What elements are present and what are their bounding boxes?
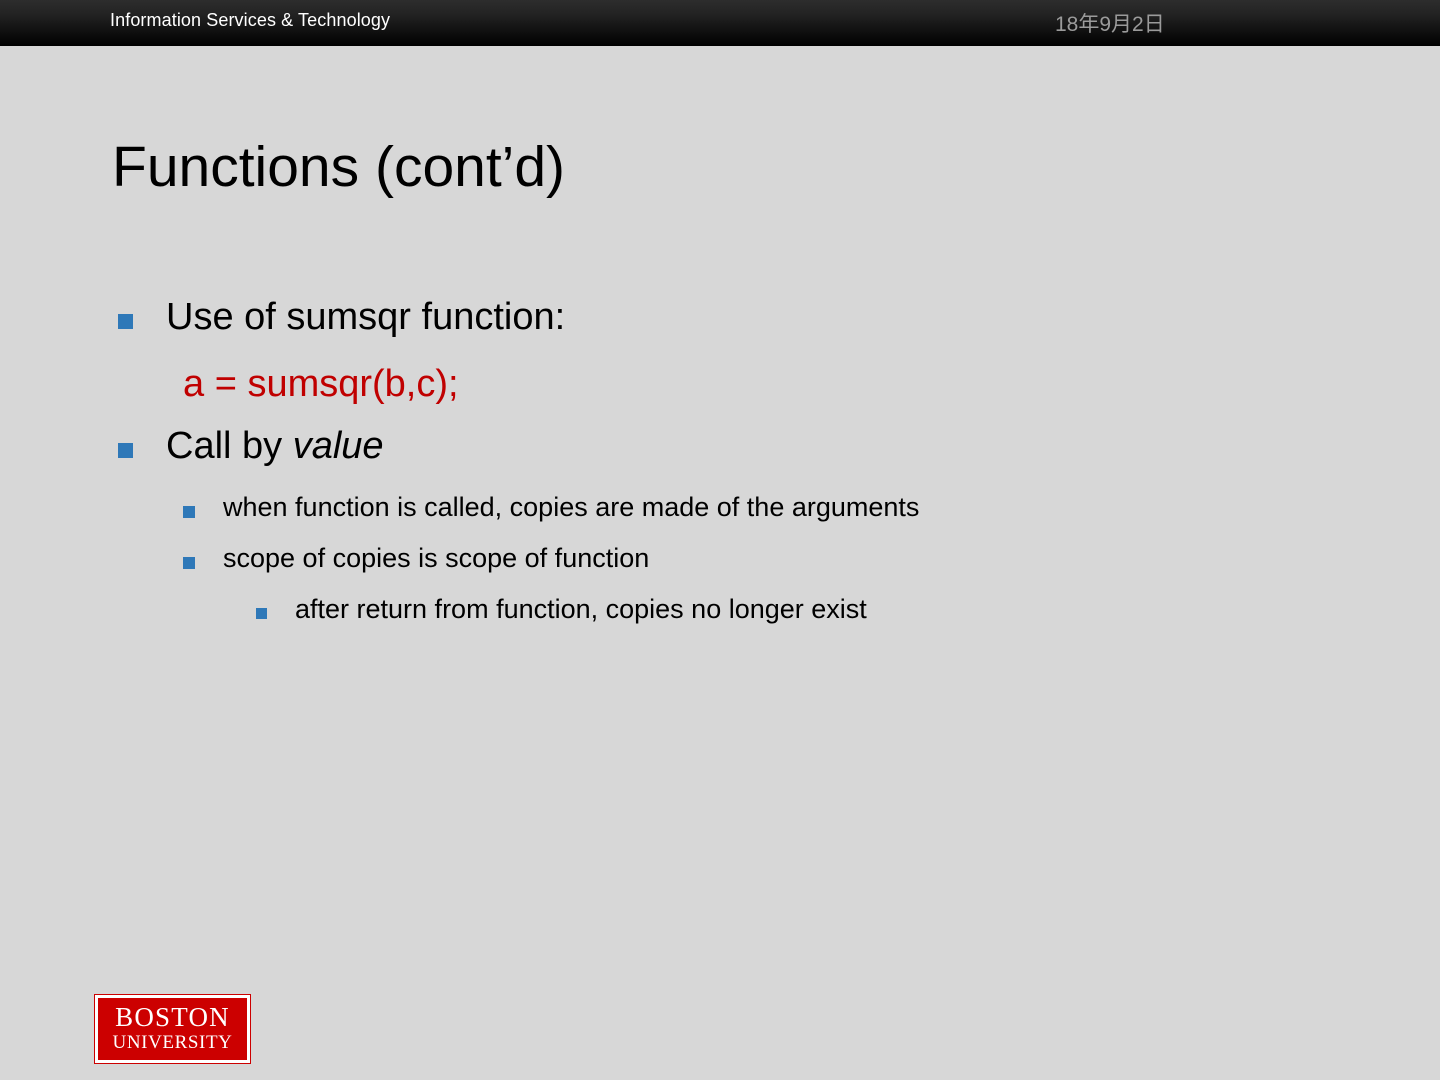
- square-bullet-icon: [118, 443, 133, 458]
- slide-body: Functions (cont’d) Use of sumsqr functio…: [0, 46, 1440, 1080]
- bullet-text: Call by value: [166, 427, 384, 466]
- bullet-item-level3: after return from function, copies no lo…: [0, 596, 1440, 646]
- bullet-text-plain: Call by: [166, 425, 293, 467]
- bullet-item-level1: Use of sumsqr function:: [0, 298, 1440, 365]
- logo-line-boston: BOSTON: [115, 1004, 230, 1031]
- slide-title: Functions (cont’d): [112, 138, 565, 198]
- bullet-text: after return from function, copies no lo…: [295, 596, 867, 624]
- square-bullet-icon: [118, 314, 133, 329]
- header-date: 18年9月2日: [1055, 8, 1165, 38]
- bullet-item-level1: Call by value: [0, 427, 1440, 494]
- bullet-text: scope of copies is scope of function: [223, 545, 649, 573]
- bullet-text: Use of sumsqr function:: [166, 298, 565, 337]
- square-bullet-icon: [183, 557, 195, 569]
- code-line-item: a = sumsqr(b,c);: [0, 365, 1440, 427]
- bullet-item-level2: scope of copies is scope of function: [0, 545, 1440, 596]
- square-bullet-icon: [183, 506, 195, 518]
- slide-content-list: Use of sumsqr function: a = sumsqr(b,c);…: [0, 298, 1440, 646]
- logo-line-university: UNIVERSITY: [113, 1033, 233, 1054]
- square-bullet-icon: [256, 608, 267, 619]
- slide-header-bar: Information Services & Technology 18年9月2…: [0, 0, 1440, 46]
- boston-university-logo: BOSTON UNIVERSITY: [95, 995, 250, 1063]
- code-text: a = sumsqr(b,c);: [183, 365, 459, 404]
- header-title: Information Services & Technology: [110, 10, 390, 31]
- bullet-item-level2: when function is called, copies are made…: [0, 494, 1440, 545]
- bullet-text-emphasis: value: [293, 425, 384, 467]
- bullet-text: when function is called, copies are made…: [223, 494, 919, 522]
